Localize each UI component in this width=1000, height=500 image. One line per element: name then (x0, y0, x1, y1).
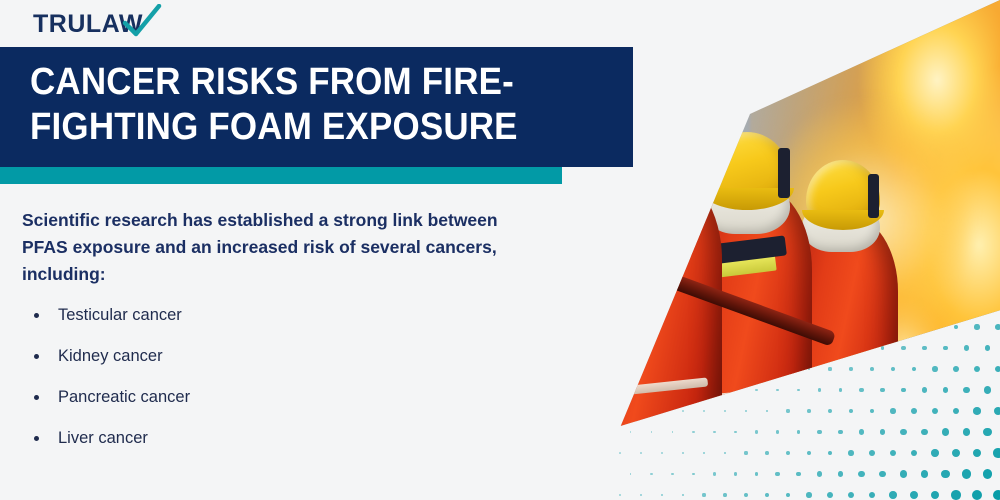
halftone-dot (901, 346, 905, 350)
page-title: Cancer Risks From Fire-Fighting Foam Exp… (30, 60, 564, 150)
bullet-marker-icon (34, 395, 39, 400)
bullet-marker-icon (34, 436, 39, 441)
halftone-dot (755, 389, 757, 391)
trulaw-logo[interactable]: TRULAW (33, 9, 183, 41)
halftone-dot (630, 431, 632, 433)
halftone-dot (724, 410, 726, 412)
halftone-dot (964, 345, 969, 350)
halftone-dot (797, 430, 801, 434)
halftone-dot (890, 408, 895, 413)
halftone-dot (911, 450, 918, 457)
cancer-list: Testicular cancerKidney cancerPancreatic… (30, 305, 450, 469)
halftone-dot (797, 389, 800, 392)
halftone-dot (755, 430, 758, 433)
halftone-dot (900, 429, 906, 435)
helmet-chin-strap (686, 130, 698, 182)
halftone-dot (755, 472, 759, 476)
halftone-dot (671, 473, 673, 475)
halftone-dot (776, 389, 779, 392)
halftone-dot (953, 408, 960, 415)
halftone-dot (995, 324, 1000, 330)
halftone-dot (932, 408, 938, 414)
halftone-dot (889, 491, 897, 499)
halftone-dot (807, 409, 811, 413)
bullet-marker-icon (34, 313, 39, 318)
halftone-dot (880, 429, 886, 435)
halftone-dot (921, 429, 928, 436)
halftone-dot (817, 430, 821, 434)
shoulder-strap (611, 219, 693, 250)
checkmark-icon (122, 4, 162, 38)
halftone-dot (931, 491, 940, 500)
halftone-dot (828, 409, 832, 413)
halftone-dot (879, 471, 886, 478)
halftone-dot (765, 451, 769, 455)
halftone-dot (993, 490, 1000, 500)
halftone-dot (640, 452, 642, 454)
halftone-dot (931, 449, 938, 456)
halftone-dot (983, 469, 993, 479)
halftone-dot (974, 366, 980, 372)
halftone-dot (890, 450, 896, 456)
halftone-dot (713, 431, 715, 433)
protective-hood (604, 158, 698, 220)
halftone-dot (796, 472, 801, 477)
halftone-dot (954, 325, 959, 330)
halftone-dot (974, 324, 979, 329)
teal-accent-bar (0, 167, 562, 184)
halftone-dot (942, 428, 949, 435)
halftone-dot (859, 388, 863, 392)
halftone-dot (985, 345, 991, 351)
halftone-dot (765, 493, 769, 497)
halftone-dot (995, 366, 1000, 373)
halftone-dot (973, 407, 980, 414)
halftone-dot (983, 428, 991, 436)
halftone-dot (817, 471, 822, 476)
halftone-dot (963, 387, 969, 393)
halftone-dot (619, 494, 621, 496)
halftone-dot (807, 451, 811, 455)
halftone-dot (849, 409, 853, 413)
halftone-dot (973, 449, 982, 458)
halftone-dot (859, 429, 864, 434)
halftone-dot (682, 494, 685, 497)
halftone-dot (994, 407, 1000, 415)
list-item-label: Testicular cancer (58, 306, 182, 324)
halftone-dot (692, 473, 695, 476)
halftone-dot (640, 494, 642, 496)
halftone-dot (922, 387, 927, 392)
halftone-dot (651, 431, 653, 433)
halftone-dot (848, 450, 853, 455)
halftone-dot (869, 450, 875, 456)
halftone-dot (951, 490, 960, 499)
halftone-dot (910, 491, 918, 499)
halftone-dot (963, 428, 971, 436)
headline-band: Cancer Risks From Fire-Fighting Foam Exp… (0, 47, 633, 167)
halftone-dot (734, 472, 737, 475)
intro-paragraph: Scientific research has established a st… (22, 207, 502, 288)
halftone-dot (744, 451, 747, 454)
halftone-dot (702, 493, 705, 496)
halftone-dot (943, 387, 949, 393)
halftone-dot (880, 388, 885, 393)
halftone-dot (827, 492, 833, 498)
halftone-dot (911, 408, 917, 414)
halftone-dot (786, 409, 789, 412)
halftone-dot (828, 451, 833, 456)
bullet-marker-icon (34, 354, 39, 359)
halftone-dot (941, 470, 949, 478)
halftone-dot (849, 367, 852, 370)
halftone-dot (953, 366, 959, 372)
list-item-label: Liver cancer (58, 429, 148, 447)
halftone-dot (661, 452, 663, 454)
halftone-dot (806, 492, 811, 497)
halftone-dot (713, 472, 716, 475)
halftone-dot (912, 367, 917, 372)
halftone-dot (921, 470, 929, 478)
halftone-dot (786, 493, 791, 498)
halftone-dot (723, 493, 727, 497)
halftone-dot (881, 346, 885, 350)
list-item: Liver cancer (30, 428, 450, 449)
list-item: Kidney cancer (30, 346, 450, 367)
halftone-dot (692, 431, 694, 433)
halftone-dot (869, 492, 876, 499)
halftone-dot (786, 451, 790, 455)
halftone-dot (724, 452, 727, 455)
halftone-dot (952, 449, 960, 457)
halftone-dot (703, 452, 706, 455)
halftone-dot (838, 430, 843, 435)
halftone-dot (734, 431, 737, 434)
halftone-dot (962, 469, 971, 478)
halftone-dot (661, 494, 664, 497)
helmet-chin-strap (778, 148, 790, 198)
list-item-label: Kidney cancer (58, 347, 163, 365)
halftone-dot (932, 366, 937, 371)
halftone-dot (619, 452, 621, 454)
halftone-dot (870, 367, 874, 371)
halftone-dot (900, 470, 907, 477)
halftone-dot (984, 386, 991, 393)
list-item-label: Pancreatic cancer (58, 388, 190, 406)
halftone-dot (682, 410, 684, 412)
halftone-dot (672, 431, 674, 433)
helmet-brim (604, 172, 702, 194)
halftone-dot (891, 367, 895, 371)
halftone-dot (858, 471, 864, 477)
infographic-page: TRULAW Cancer Risks From Fire-Fighting F… (0, 0, 1000, 500)
halftone-dot (630, 473, 632, 475)
halftone-dot (922, 346, 926, 350)
halftone-dot (839, 388, 843, 392)
halftone-dot (744, 493, 748, 497)
halftone-dot (901, 388, 906, 393)
halftone-dot (828, 367, 831, 370)
list-item: Pancreatic cancer (30, 387, 450, 408)
halftone-dot (745, 410, 748, 413)
halftone-dot (818, 388, 821, 391)
halftone-dot (848, 492, 854, 498)
halftone-dot (703, 410, 705, 412)
halftone-dot (993, 448, 1000, 457)
helmet-chin-strap (868, 174, 879, 218)
halftone-dot (972, 490, 982, 500)
halftone-dot (766, 410, 769, 413)
list-item: Testicular cancer (30, 305, 450, 326)
halftone-dot (776, 430, 779, 433)
halftone-dot (943, 346, 948, 351)
halftone-dot (870, 409, 875, 414)
halftone-dot (682, 452, 684, 454)
halftone-dot (775, 472, 779, 476)
halftone-dot (650, 473, 652, 475)
halftone-dot (838, 471, 844, 477)
